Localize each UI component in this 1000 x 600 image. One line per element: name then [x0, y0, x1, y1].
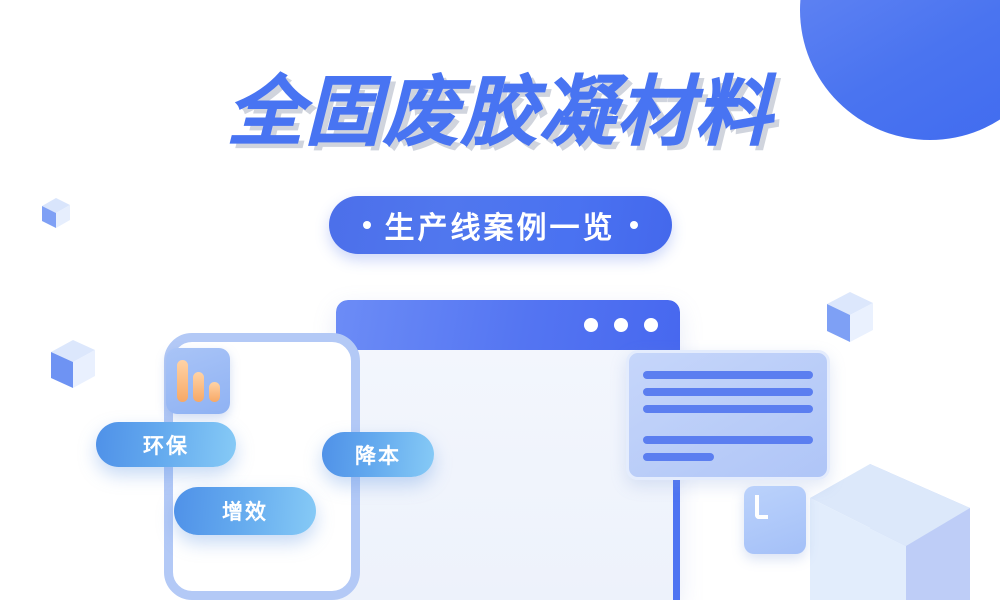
page-title: 全固废胶凝材料 — [227, 72, 773, 152]
document-line-3 — [643, 405, 813, 413]
subtitle-block: 生产线案例一览 — [0, 196, 1000, 254]
subtitle-text: 生产线案例一览 — [385, 203, 616, 247]
file-bookmark-icon — [744, 486, 806, 554]
document-line-4 — [643, 436, 813, 444]
cube-large-bottom-right — [810, 450, 1000, 600]
feature-pill-jiangben[interactable]: 降本 — [322, 432, 434, 477]
document-line-2 — [643, 388, 813, 396]
document-lines-card — [626, 350, 830, 480]
subtitle-pill: 生产线案例一览 — [329, 196, 672, 254]
feature-pill-zengxiao-label: 增效 — [222, 496, 268, 526]
feature-pill-huanbao[interactable]: 环保 — [96, 422, 236, 467]
browser-titlebar — [336, 300, 680, 350]
bar-chart-bar-2 — [193, 372, 204, 402]
feature-pill-zengxiao[interactable]: 增效 — [174, 487, 316, 535]
window-control-dot-3-icon[interactable] — [644, 318, 658, 332]
title-block: 全固废胶凝材料 — [0, 72, 1000, 152]
bullet-dot-right-icon — [630, 221, 638, 229]
document-line-1 — [643, 371, 813, 379]
document-line-5 — [643, 453, 714, 461]
cube-right — [824, 290, 876, 344]
file-notch-shape — [755, 495, 768, 519]
cube-medium-left — [48, 338, 98, 390]
bar-chart-bar-3 — [209, 382, 220, 402]
poster-canvas: 全固废胶凝材料 生产线案例一览 — [0, 0, 1000, 600]
feature-pill-huanbao-label: 环保 — [143, 430, 189, 460]
feature-pill-jiangben-label: 降本 — [355, 440, 401, 470]
window-control-dot-1-icon[interactable] — [584, 318, 598, 332]
document-lines — [643, 371, 813, 461]
window-controls — [584, 318, 658, 332]
bar-chart-bar-1 — [177, 360, 188, 402]
bar-chart-icon — [166, 348, 230, 414]
bullet-dot-left-icon — [363, 221, 371, 229]
window-control-dot-2-icon[interactable] — [614, 318, 628, 332]
bar-chart-bars — [177, 360, 220, 402]
